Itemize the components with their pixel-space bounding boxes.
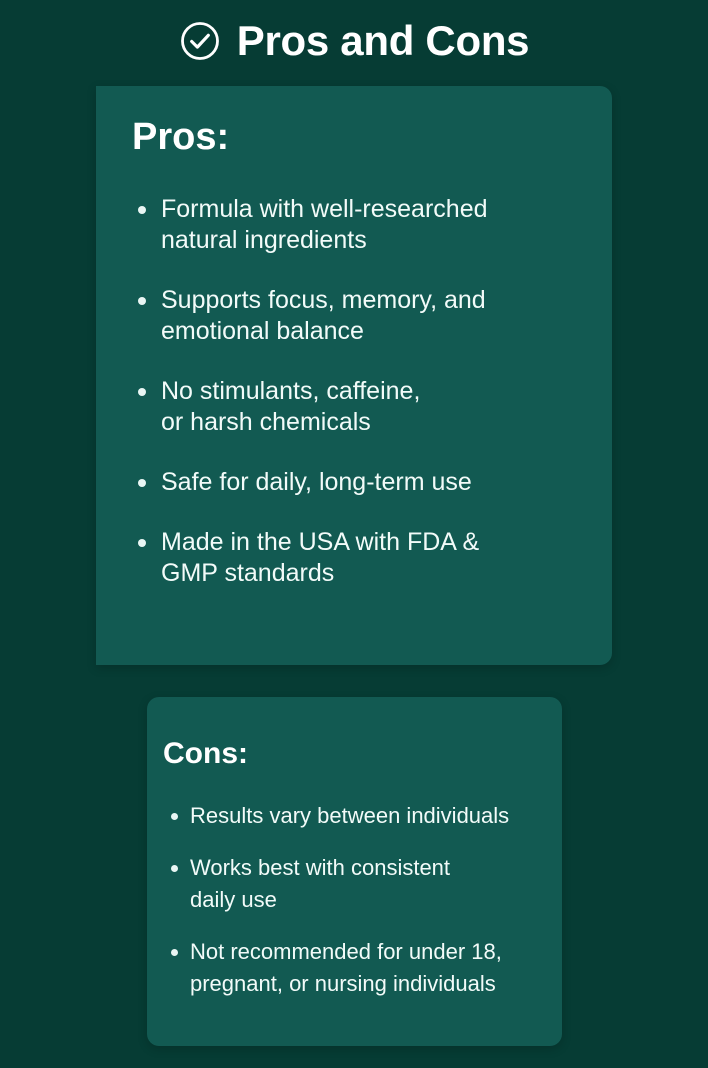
bullet-dot-icon <box>138 388 146 396</box>
list-item: Safe for daily, long-term use <box>132 467 612 498</box>
page-title: Pros and Cons <box>237 20 529 62</box>
pros-item-text: Made in the USA with FDA & GMP standards <box>161 527 612 589</box>
bullet-dot-icon <box>171 949 178 956</box>
cons-item-text: Results vary between individuals <box>190 800 562 832</box>
list-item: Formula with well-researched natural ing… <box>132 194 612 256</box>
cons-list: Results vary between individuals Works b… <box>163 800 562 1000</box>
bullet-dot-icon <box>171 813 178 820</box>
check-circle-icon <box>179 20 221 62</box>
pros-list: Formula with well-researched natural ing… <box>132 194 612 589</box>
cons-card: Cons: Results vary between individuals W… <box>147 697 562 1046</box>
pros-item-text: No stimulants, caffeine, or harsh chemic… <box>161 376 612 438</box>
list-item: Works best with consistent daily use <box>163 852 562 916</box>
cons-item-text: Not recommended for under 18, pregnant, … <box>190 936 562 1000</box>
list-item: Made in the USA with FDA & GMP standards <box>132 527 612 589</box>
bullet-dot-icon <box>138 479 146 487</box>
cons-heading: Cons: <box>163 739 562 769</box>
pros-item-text: Supports focus, memory, and emotional ba… <box>161 285 612 347</box>
pros-card: Pros: Formula with well-researched natur… <box>96 86 612 665</box>
list-item: No stimulants, caffeine, or harsh chemic… <box>132 376 612 438</box>
list-item: Not recommended for under 18, pregnant, … <box>163 936 562 1000</box>
bullet-dot-icon <box>138 297 146 305</box>
bullet-dot-icon <box>138 206 146 214</box>
list-item: Supports focus, memory, and emotional ba… <box>132 285 612 347</box>
pros-item-text: Formula with well-researched natural ing… <box>161 194 612 256</box>
bullet-dot-icon <box>171 865 178 872</box>
pros-item-text: Safe for daily, long-term use <box>161 467 612 498</box>
bullet-dot-icon <box>138 539 146 547</box>
cons-item-text: Works best with consistent daily use <box>190 852 562 916</box>
list-item: Results vary between individuals <box>163 800 562 832</box>
pros-heading: Pros: <box>132 118 612 156</box>
page-header: Pros and Cons <box>0 0 708 86</box>
